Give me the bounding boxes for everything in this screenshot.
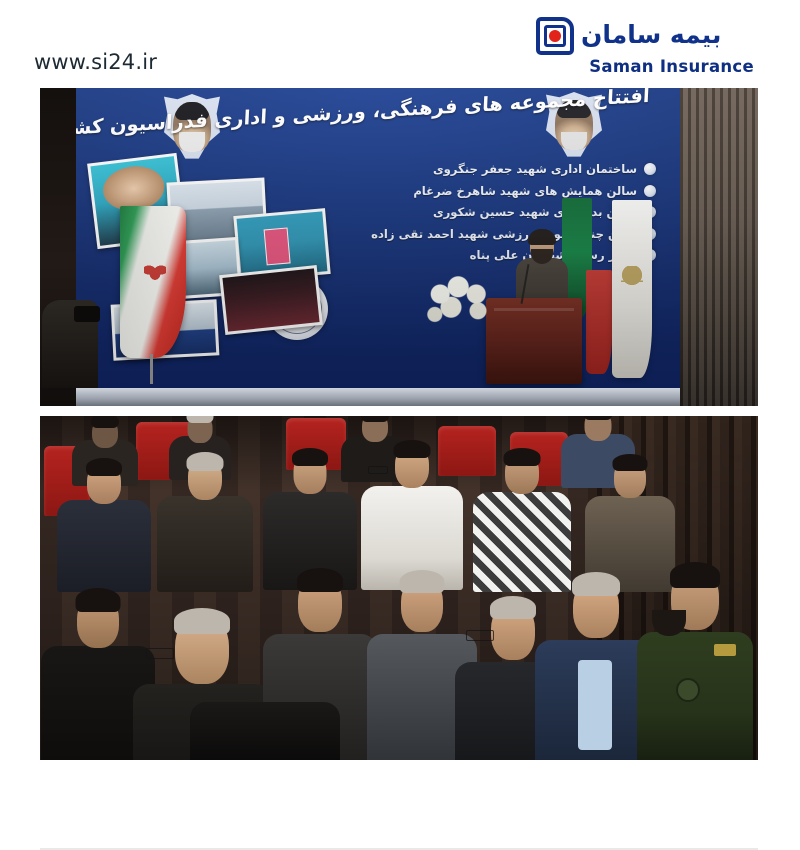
audience-photo: [40, 416, 758, 760]
eyeglasses-icon: [146, 648, 174, 659]
white-federation-flag-icon: [612, 200, 652, 378]
speaker-hair: [528, 229, 556, 245]
white-flower-arrangement-icon: [424, 276, 514, 336]
attendee-body: [57, 500, 151, 592]
list-item: ساختمان اداری شهید جعفر جنگروی: [356, 162, 656, 176]
attendee-hair: [174, 608, 230, 634]
speaker-area: [476, 206, 680, 388]
iran-flag-icon: [120, 206, 192, 381]
brand-row: بیمه سامان: [536, 16, 756, 56]
snap-image: [222, 268, 319, 331]
attendee-hair: [361, 416, 389, 422]
flag-pole: [150, 354, 153, 384]
eyeglasses-icon: [368, 466, 388, 474]
portrait-beard: [561, 132, 587, 150]
page-header: www.si24.ir بیمه سامان Saman Insurance: [0, 0, 800, 88]
attendee-hair: [613, 454, 648, 471]
list-item: سالن همایش های شهید شاهرخ ضرغام: [356, 184, 656, 198]
seated-attendee-icon: [360, 438, 464, 574]
officer-hair: [670, 562, 720, 588]
cameraman-icon: [42, 300, 98, 388]
attendee-shirt: [578, 660, 612, 750]
stage-ceremony-photo: افتتاح مجموعه های فرهنگی، ورزشی و اداری …: [40, 88, 758, 406]
attendee-body: [157, 496, 253, 592]
video-camera-icon: [74, 306, 100, 322]
saman-insurance-logo: بیمه سامان Saman Insurance: [536, 16, 756, 78]
attendee-hair: [394, 440, 431, 458]
ceremony-backdrop-banner: افتتاح مجموعه های فرهنگی، ورزشی و اداری …: [76, 88, 680, 388]
flag-cloth: [120, 206, 186, 358]
seated-attendee-icon: [472, 444, 572, 576]
red-flag-icon: [586, 270, 612, 374]
military-officer-icon: [636, 560, 754, 760]
saman-square-logo-icon: [536, 17, 574, 55]
attendee-hair: [76, 588, 121, 612]
bullet-dot-icon: [644, 185, 656, 197]
eyeglasses-icon: [466, 630, 494, 641]
photo-divider: [40, 406, 758, 416]
site-url-text: www.si24.ir: [34, 50, 157, 74]
hall-right-wood-wall: [680, 88, 758, 406]
attendee-hair: [490, 596, 536, 619]
stage-floor: [76, 388, 680, 406]
officer-emblem-patch-icon: [676, 678, 700, 702]
attendee-body: [190, 702, 340, 760]
seated-attendee-icon: [584, 450, 676, 578]
list-item-label: سالن همایش های شهید شاهرخ ضرغام: [413, 184, 637, 198]
seated-attendee-icon: [190, 702, 340, 760]
attendee-hair: [292, 448, 328, 466]
attendee-hair: [91, 416, 119, 428]
brand-name-fa: بیمه سامان: [581, 22, 721, 47]
attendee-hair: [584, 416, 613, 420]
seated-attendee-icon: [156, 450, 254, 576]
photo-stack: افتتاح مجموعه های فرهنگی، ورزشی و اداری …: [40, 88, 758, 760]
photo-night-stadium: [219, 265, 323, 335]
attendee-hair: [572, 572, 620, 596]
attendee-hair: [187, 416, 214, 423]
officer-rank-insignia-icon: [714, 644, 736, 656]
attendee-hair: [400, 570, 445, 593]
bullet-dot-icon: [644, 163, 656, 175]
list-item-label: ساختمان اداری شهید جعفر جنگروی: [433, 162, 637, 176]
seated-attendee-icon: [262, 444, 358, 574]
iran-emblem-icon: [144, 262, 166, 282]
logo-red-dot-icon: [549, 30, 561, 42]
attendee-hair: [504, 448, 541, 466]
seated-attendee-icon: [56, 456, 152, 576]
attendee-hair: [187, 452, 224, 471]
brand-name-en: Saman Insurance: [536, 57, 756, 76]
attendee-hair: [297, 568, 343, 592]
federation-flag-emblem-icon: [621, 266, 643, 296]
attendee-hair: [86, 458, 122, 476]
